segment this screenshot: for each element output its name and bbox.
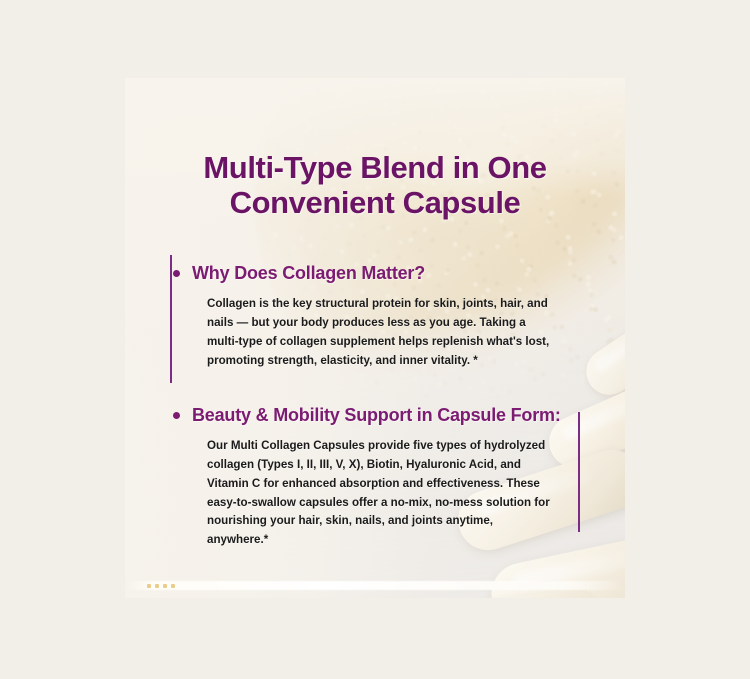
benefit-heading-label: Why Does Collagen Matter? — [192, 263, 583, 284]
benefit-heading: Why Does Collagen Matter? — [173, 263, 583, 284]
benefit-section: Beauty & Mobility Support in Capsule For… — [173, 405, 583, 550]
page-canvas: Multi-Type Blend in One Convenient Capsu… — [0, 0, 750, 679]
benefit-heading-label: Beauty & Mobility Support in Capsule For… — [192, 405, 583, 426]
benefit-section: Why Does Collagen Matter? Collagen is th… — [173, 263, 583, 370]
benefit-heading: Beauty & Mobility Support in Capsule For… — [173, 405, 583, 426]
band-dot-icon — [155, 584, 159, 588]
band-dot-icon — [147, 584, 151, 588]
band-dot-icon — [163, 584, 167, 588]
band-dot-icon — [171, 584, 175, 588]
bottom-divider-band — [125, 581, 625, 590]
panel-content: Multi-Type Blend in One Convenient Capsu… — [125, 78, 625, 598]
band-dot-group — [147, 584, 175, 588]
benefit-body-text: Our Multi Collagen Capsules provide five… — [207, 437, 557, 550]
benefit-body-text: Collagen is the key structural protein f… — [207, 295, 557, 370]
accent-rule-left — [170, 255, 172, 383]
bullet-icon — [173, 270, 180, 277]
page-title: Multi-Type Blend in One Convenient Capsu… — [125, 150, 625, 221]
bullet-icon — [173, 412, 180, 419]
product-info-panel: Multi-Type Blend in One Convenient Capsu… — [125, 78, 625, 598]
